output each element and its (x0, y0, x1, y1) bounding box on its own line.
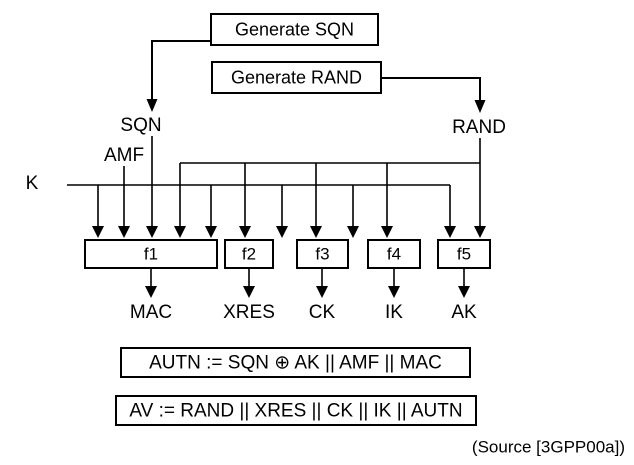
autn-formula-label: AUTN := SQN ⊕ AK || AMF || MAC (149, 353, 442, 374)
f1-label: f1 (144, 244, 158, 263)
f5-output-arrowhead (458, 286, 470, 298)
sqn-arrowhead (147, 99, 158, 112)
usim-authentication-vector-diagram: Generate SQN Generate RAND SQN AMF K RAN… (0, 0, 634, 465)
function-box-f1[interactable]: f1 (85, 240, 217, 268)
f2-label: f2 (242, 244, 256, 263)
function-box-f3[interactable]: f3 (297, 240, 348, 268)
amf-distribution-wire (118, 166, 130, 238)
function-box-f2[interactable]: f2 (225, 240, 273, 268)
f4-output-wire: IK (385, 268, 403, 323)
amf-to-f1-arrowhead (118, 226, 130, 238)
f3-label: f3 (315, 244, 329, 263)
rand-generator-wire (381, 78, 486, 113)
k-to-f3-arrowhead (276, 226, 288, 238)
rand-bus (174, 138, 486, 238)
k-signal-label: K (26, 173, 39, 194)
f1-output-arrowhead (145, 286, 157, 298)
ak-output-label: AK (451, 302, 477, 323)
k-to-f4-arrowhead (347, 226, 359, 238)
generate-sqn-box[interactable]: Generate SQN (211, 14, 378, 45)
rand-arrowhead (475, 100, 486, 113)
ck-output-label: CK (309, 302, 336, 323)
rand-to-f2-arrowhead (239, 226, 251, 238)
amf-signal-label: AMF (104, 145, 144, 166)
f5-output-wire: AK (451, 268, 477, 323)
f5-label: f5 (457, 244, 471, 263)
f2-output-wire: XRES (223, 268, 275, 323)
function-box-f4[interactable]: f4 (368, 240, 420, 268)
generate-rand-label: Generate RAND (231, 67, 362, 87)
k-to-f5-arrowhead (444, 226, 456, 238)
f2-output-arrowhead (243, 286, 255, 298)
sqn-signal-label: SQN (120, 115, 161, 136)
rand-to-f4-arrowhead (381, 226, 393, 238)
k-to-f2-arrowhead (205, 226, 217, 238)
f4-label: f4 (387, 244, 401, 263)
generate-sqn-label: Generate SQN (235, 19, 354, 39)
f1-output-wire: MAC (130, 268, 172, 323)
rand-to-f3-arrowhead (310, 226, 322, 238)
sqn-to-f1-arrowhead (146, 226, 158, 238)
av-formula-label: AV := RAND || XRES || CK || IK || AUTN (129, 401, 462, 422)
autn-formula-box[interactable]: AUTN := SQN ⊕ AK || AMF || MAC (121, 348, 470, 377)
rand-signal-label: RAND (452, 117, 506, 138)
sqn-distribution-wire (146, 136, 158, 238)
function-box-f5[interactable]: f5 (438, 240, 490, 268)
generate-rand-box[interactable]: Generate RAND (212, 62, 381, 93)
f3-output-arrowhead (316, 286, 328, 298)
sqn-generator-wire (147, 41, 212, 112)
k-to-f1-arrowhead (92, 226, 104, 238)
rand-to-f5-arrowhead (474, 226, 486, 238)
mac-output-label: MAC (130, 302, 172, 323)
f4-output-arrowhead (388, 286, 400, 298)
av-formula-box[interactable]: AV := RAND || XRES || CK || IK || AUTN (116, 396, 476, 425)
rand-to-f1-arrowhead (174, 226, 186, 238)
source-attribution: (Source [3GPP00a]) (472, 437, 625, 456)
xres-output-label: XRES (223, 302, 275, 323)
f3-output-wire: CK (309, 268, 336, 323)
ik-output-label: IK (385, 302, 403, 323)
